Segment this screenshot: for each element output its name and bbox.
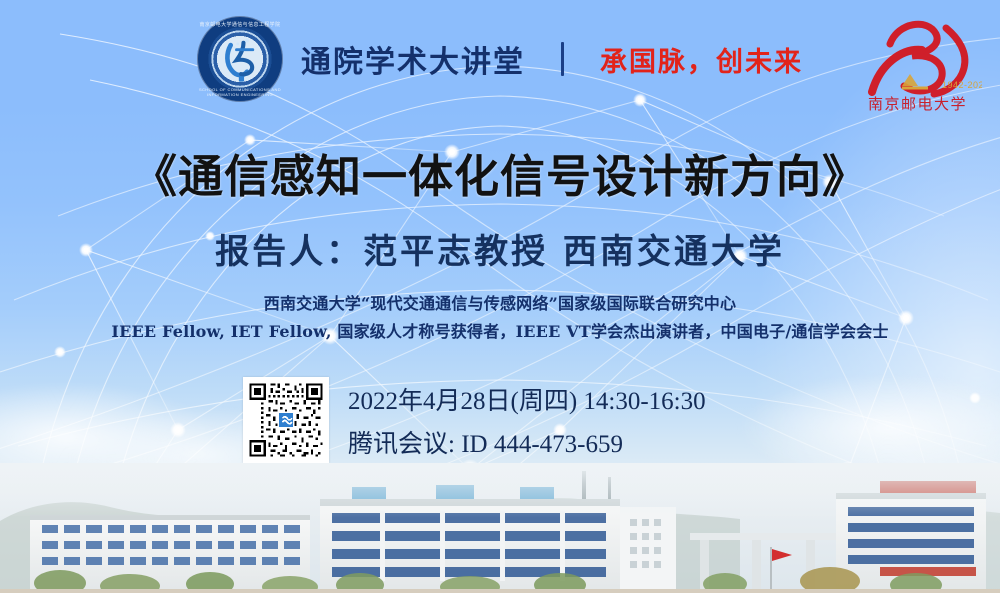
brand-block: 南京邮电大学通信与信息工程学院 SCHOOL OF COMMUNICATIONS… (197, 16, 803, 102)
svg-text:南京邮电大学: 南京邮电大学 (868, 95, 967, 113)
meeting-id: 腾讯会议: ID 444-473-659 (348, 424, 623, 460)
header-slogan: 承国脉，创未来 (600, 40, 803, 79)
speaker-line: 报告人：范平志教授 西南交通大学 (0, 224, 1000, 273)
cloud-right (660, 323, 1000, 473)
wechat-qr-code[interactable] (243, 377, 329, 463)
emblem-ring-text-top: 南京邮电大学通信与信息工程学院 (197, 21, 283, 28)
lecture-poster: 南京邮电大学通信与信息工程学院 SCHOOL OF COMMUNICATIONS… (0, 0, 1000, 593)
emblem-mark-icon (211, 30, 269, 88)
credential-line-2: IEEE Fellow, IET Fellow, 国家级人才称号获得者，IEEE… (0, 318, 1000, 342)
campus-illustration (0, 463, 1000, 593)
svg-text:1942-2022: 1942-2022 (942, 80, 982, 90)
qr-code-icon (247, 381, 325, 459)
credential-line-1: 西南交通大学“现代交通通信与传感网络”国家级国际联合研究中心 (0, 290, 1000, 314)
event-datetime: 2022年4月28日(周四) 14:30-16:30 (348, 381, 706, 417)
campus-buildings-photo (0, 463, 1000, 593)
page-title: 《通信感知一体化信号设计新方向》 (0, 140, 1000, 205)
emblem-ring-text-bottom: SCHOOL OF COMMUNICATIONS AND INFORMATION… (197, 87, 283, 97)
header-title: 通院学术大讲堂 (301, 37, 525, 81)
anniversary-logo-icon: 1942-2022 南京邮电大学 (850, 8, 982, 116)
school-emblem-icon: 南京邮电大学通信与信息工程学院 SCHOOL OF COMMUNICATIONS… (197, 16, 283, 102)
header-divider (561, 42, 564, 76)
